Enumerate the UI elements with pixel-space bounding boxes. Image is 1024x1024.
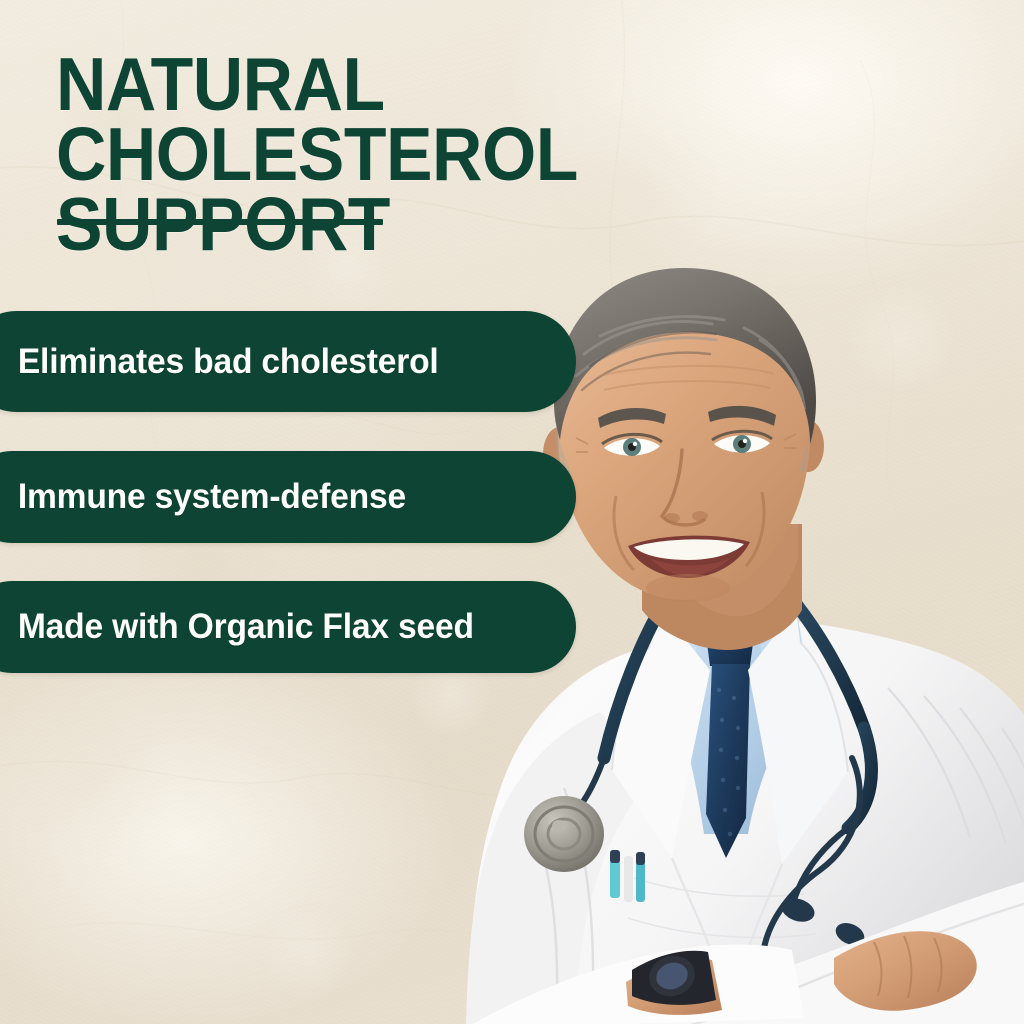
stethoscope-chestpiece (524, 796, 604, 872)
poster-canvas: NATURAL CHOLESTEROL SUPPORT Eliminates b… (0, 0, 1024, 1024)
feature-label-3: Made with Organic Flax seed (0, 607, 474, 647)
page-title: NATURAL CHOLESTEROL SUPPORT (56, 50, 874, 259)
pocket-pens (610, 850, 645, 902)
feature-pill-2[interactable]: Immune system-defense (0, 451, 576, 543)
title-divider (57, 219, 383, 225)
feature-label-2: Immune system-defense (0, 477, 406, 517)
feature-label-1: Eliminates bad cholesterol (0, 342, 439, 382)
feature-pill-1[interactable]: Eliminates bad cholesterol (0, 311, 576, 412)
feature-pill-3[interactable]: Made with Organic Flax seed (0, 581, 576, 673)
